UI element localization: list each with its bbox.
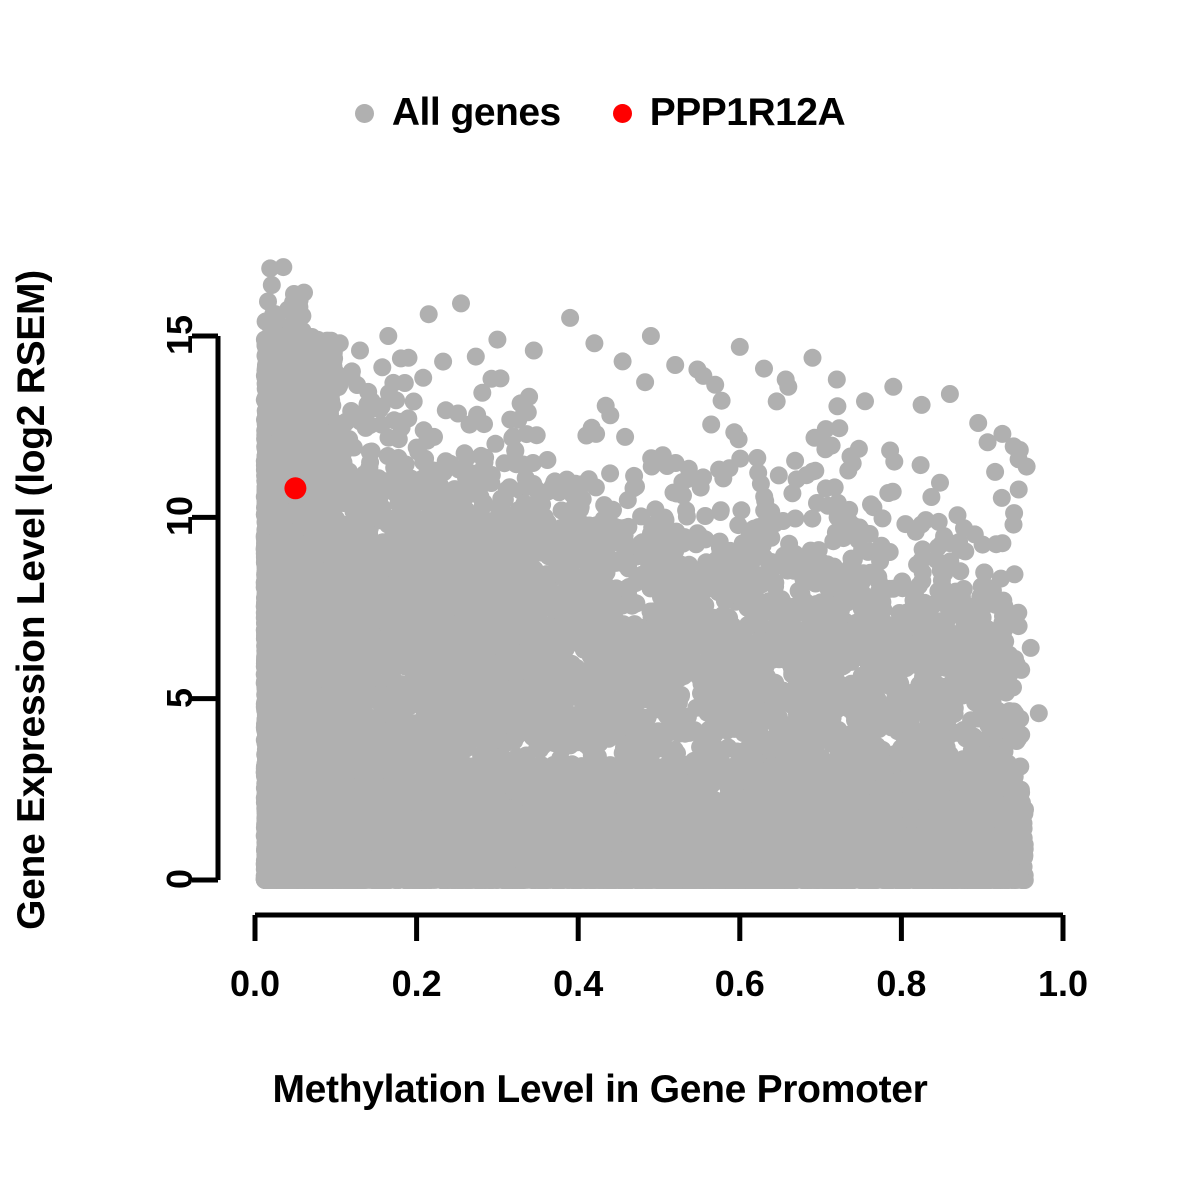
- scatter-plot-figure: All genes PPP1R12A Methylation Level in …: [0, 0, 1200, 1200]
- highlight-point-ppp1r12a[interactable]: [284, 477, 306, 499]
- x-tick-label-0-4: 0.4: [553, 963, 603, 1005]
- y-tick-label-15: 15: [159, 305, 201, 365]
- highlight-point-layer: [284, 477, 306, 499]
- legend-label-ppp1r12a: PPP1R12A: [650, 91, 845, 135]
- y-tick-label-10: 10: [159, 486, 201, 546]
- scatter-plot-canvas: [0, 0, 1200, 1200]
- x-tick-label-0-8: 0.8: [876, 963, 926, 1005]
- x-axis-title: Methylation Level in Gene Promoter: [0, 1068, 1200, 1112]
- x-tick-label-1-0: 1.0: [1038, 963, 1088, 1005]
- y-tick-label-5: 5: [159, 668, 201, 728]
- x-tick-label-0-2: 0.2: [392, 963, 442, 1005]
- grey-dot-icon: [355, 104, 374, 123]
- red-dot-icon: [613, 104, 632, 123]
- x-tick-label-0-6: 0.6: [715, 963, 765, 1005]
- x-tick-label-0-0: 0.0: [230, 963, 280, 1005]
- data-points-layer: [256, 258, 1048, 889]
- y-axis-title: Gene Expression Level (log2 RSEM): [0, 0, 64, 1200]
- legend-entry-ppp1r12a[interactable]: PPP1R12A: [613, 91, 845, 135]
- y-tick-label-0: 0: [159, 849, 201, 909]
- legend-entry-all-genes[interactable]: All genes: [355, 91, 561, 135]
- legend-label-all-genes: All genes: [392, 91, 561, 135]
